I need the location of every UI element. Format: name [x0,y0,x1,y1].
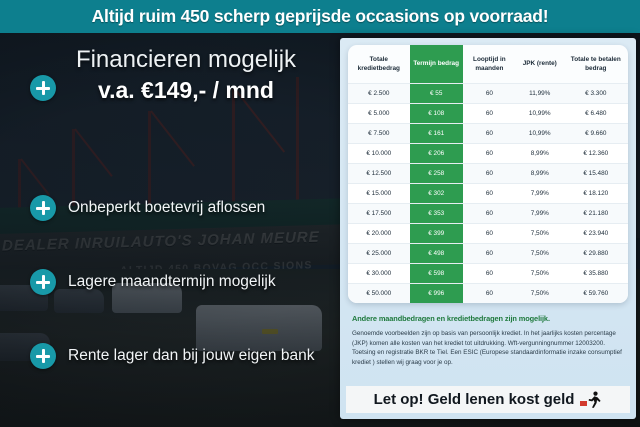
promo-headline-line2: v.a. €149,- / mnd [30,75,342,105]
table-row: € 15.000€ 302607,99%€ 18.120 [348,183,628,203]
table-cell: € 12.360 [564,143,628,163]
table-cell: € 25.000 [348,243,410,263]
table-cell: € 10.000 [348,143,410,163]
top-banner: Altijd ruim 450 scherp geprijsde occasio… [0,0,640,33]
running-man-icon [580,391,602,408]
table-row: € 25.000€ 498607,50%€ 29.880 [348,243,628,263]
feature-label: Lagere maandtermijn mogelijk [68,273,276,291]
table-cell: 60 [463,243,516,263]
table-cell: € 21.180 [564,203,628,223]
feature-label: Onbeperkt boetevrij aflossen [68,199,265,217]
table-cell: € 598 [410,263,463,283]
promo-headline-line1: Financieren mogelijk [30,45,342,75]
rate-table-card: Totale kredietbedrag Termijn bedrag Loop… [348,45,628,303]
table-row: € 17.500€ 353607,99%€ 21.180 [348,203,628,223]
table-cell: 60 [463,283,516,303]
table-cell: € 35.880 [564,263,628,283]
plus-icon [30,269,56,295]
table-cell: € 206 [410,143,463,163]
table-cell: € 6.480 [564,103,628,123]
table-cell: 60 [463,203,516,223]
table-header-cell: Termijn bedrag [410,45,463,83]
table-cell: € 302 [410,183,463,203]
table-cell: 11,99% [516,83,564,103]
table-cell: € 12.500 [348,163,410,183]
table-cell: 8,99% [516,163,564,183]
promo-column: Financieren mogelijk v.a. €149,- / mnd O… [0,33,348,427]
top-banner-text: Altijd ruim 450 scherp geprijsde occasio… [92,6,549,27]
table-row: € 30.000€ 598607,50%€ 35.880 [348,263,628,283]
table-cell: € 108 [410,103,463,123]
table-row: € 5.000€ 1086010,99%€ 6.480 [348,103,628,123]
table-cell: € 30.000 [348,263,410,283]
table-cell: 60 [463,103,516,123]
feature-item-2: Lagere maandtermijn mogelijk [30,269,276,295]
table-cell: € 18.120 [564,183,628,203]
credit-warning-text: Let op! Geld lenen kost geld [374,391,575,408]
promo-banner-image: Altijd ruim 450 scherp geprijsde occasio… [0,0,640,427]
table-cell: 7,50% [516,223,564,243]
table-header-cell: Totale kredietbedrag [348,45,410,83]
table-cell: 60 [463,83,516,103]
table-row: € 2.500€ 556011,99%€ 3.300 [348,83,628,103]
plus-icon [30,343,56,369]
table-cell: 8,99% [516,143,564,163]
table-cell: € 55 [410,83,463,103]
feature-label: Rente lager dan bij jouw eigen bank [68,347,314,365]
table-cell: € 498 [410,243,463,263]
table-cell: 7,99% [516,183,564,203]
table-cell: 60 [463,263,516,283]
table-cell: € 2.500 [348,83,410,103]
table-cell: 60 [463,143,516,163]
credit-warning: Let op! Geld lenen kost geld [346,386,630,413]
table-cell: € 20.000 [348,223,410,243]
table-cell: 10,99% [516,103,564,123]
table-header-cell: JPK (rente) [516,45,564,83]
table-cell: € 23.940 [564,223,628,243]
table-row: € 10.000€ 206608,99%€ 12.360 [348,143,628,163]
promo-headline: Financieren mogelijk v.a. €149,- / mnd [30,45,342,105]
table-header-cell: Totale te betalen bedrag [564,45,628,83]
table-cell: € 161 [410,123,463,143]
table-cell: € 3.300 [564,83,628,103]
feature-item-1: Onbeperkt boetevrij aflossen [30,195,265,221]
table-cell: € 9.660 [564,123,628,143]
table-cell: € 399 [410,223,463,243]
table-cell: € 258 [410,163,463,183]
disclaimer-body: Genoemde voorbeelden zijn op basis van p… [352,329,624,367]
feature-item-3: Rente lager dan bij jouw eigen bank [30,343,314,369]
table-cell: € 5.000 [348,103,410,123]
table-cell: 60 [463,223,516,243]
table-row: € 7.500€ 1616010,99%€ 9.660 [348,123,628,143]
table-cell: 7,50% [516,243,564,263]
plus-icon [30,195,56,221]
table-cell: € 29.880 [564,243,628,263]
table-cell: € 15.000 [348,183,410,203]
table-cell: 60 [463,163,516,183]
table-cell: 7,50% [516,263,564,283]
table-row: € 50.000€ 996607,50%€ 59.760 [348,283,628,303]
table-cell: 7,50% [516,283,564,303]
table-cell: € 59.760 [564,283,628,303]
table-cell: € 15.480 [564,163,628,183]
table-header-row: Totale kredietbedrag Termijn bedrag Loop… [348,45,628,83]
finance-panel: Totale kredietbedrag Termijn bedrag Loop… [340,38,636,419]
table-cell: 60 [463,123,516,143]
table-cell: 7,99% [516,203,564,223]
table-cell: € 50.000 [348,283,410,303]
table-header-cell: Looptijd in maanden [463,45,516,83]
table-row: € 20.000€ 399607,50%€ 23.940 [348,223,628,243]
table-cell: 10,99% [516,123,564,143]
rate-table: Totale kredietbedrag Termijn bedrag Loop… [348,45,628,303]
disclaimer-title: Andere maandbedragen en kredietbedragen … [352,314,628,323]
table-row: € 12.500€ 258608,99%€ 15.480 [348,163,628,183]
table-cell: € 353 [410,203,463,223]
table-cell: € 7.500 [348,123,410,143]
table-cell: € 17.500 [348,203,410,223]
table-cell: € 996 [410,283,463,303]
rate-table-body: € 2.500€ 556011,99%€ 3.300€ 5.000€ 10860… [348,83,628,303]
table-cell: 60 [463,183,516,203]
